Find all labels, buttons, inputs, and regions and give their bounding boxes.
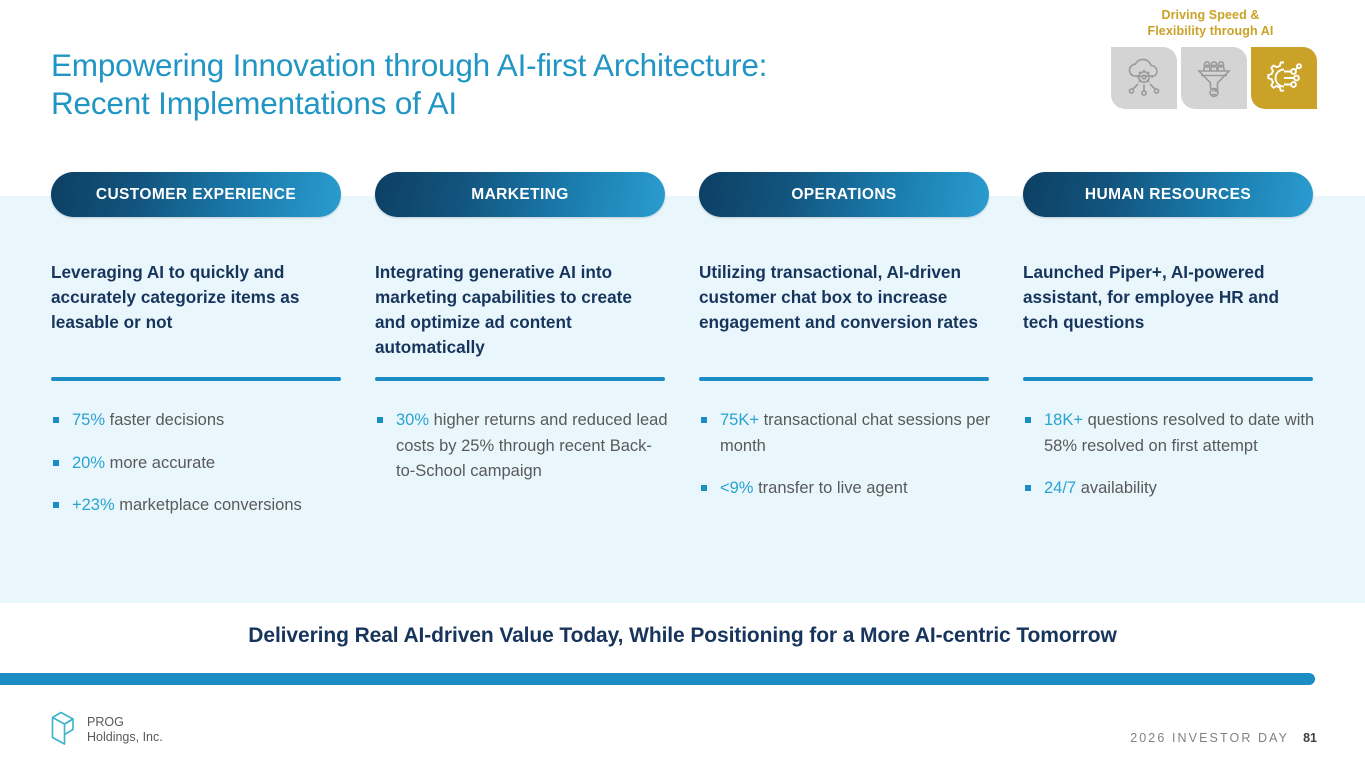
list-item: 24/7 availability	[1023, 476, 1318, 502]
gear-circuit-icon	[1262, 57, 1306, 99]
pill-label: CUSTOMER EXPERIENCE	[96, 186, 296, 204]
theme-badge-tiles	[1104, 47, 1317, 109]
bullet-stat: 75K+	[720, 411, 759, 429]
brand-logo-text: PROG Holdings, Inc.	[87, 715, 163, 745]
footer-event-label: 2026 INVESTOR DAY	[1130, 731, 1289, 745]
funnel-icon	[1192, 57, 1236, 99]
columns-container: CUSTOMER EXPERIENCE Leveraging AI to qui…	[0, 172, 1365, 592]
bullet-stat: <9%	[720, 479, 753, 497]
brand-logo: PROG Holdings, Inc.	[48, 708, 163, 751]
list-item: 18K+ questions resolved to date with 58%…	[1023, 408, 1318, 459]
theme-badge-caption: Driving Speed & Flexibility through AI	[1104, 8, 1317, 39]
bullets-operations: 75K+ transactional chat sessions per mon…	[699, 408, 994, 519]
list-item: 30% higher returns and reduced lead cost…	[375, 408, 670, 485]
pill-customer-experience[interactable]: CUSTOMER EXPERIENCE	[51, 172, 341, 217]
bullet-stat: 20%	[72, 454, 105, 472]
theme-tile-gear-circuit[interactable]	[1251, 47, 1317, 109]
column-human-resources: HUMAN RESOURCES Launched Piper+, AI-powe…	[1023, 172, 1313, 592]
list-item: 75K+ transactional chat sessions per mon…	[699, 408, 994, 459]
bullet-text: more accurate	[105, 454, 215, 472]
page-title: Empowering Innovation through AI-first A…	[51, 46, 1061, 122]
bullets-marketing: 30% higher returns and reduced lead cost…	[375, 408, 670, 502]
brand-subname: Holdings, Inc.	[87, 730, 163, 745]
headline-marketing: Integrating generative AI into marketing…	[375, 260, 665, 360]
pill-human-resources[interactable]: HUMAN RESOURCES	[1023, 172, 1313, 217]
bullets-customer-experience: 75% faster decisions 20% more accurate +…	[51, 408, 346, 536]
bullet-text: transfer to live agent	[753, 479, 907, 497]
column-divider	[375, 377, 665, 381]
column-divider	[699, 377, 989, 381]
column-customer-experience: CUSTOMER EXPERIENCE Leveraging AI to qui…	[51, 172, 341, 592]
pill-label: HUMAN RESOURCES	[1085, 186, 1251, 204]
pill-operations[interactable]: OPERATIONS	[699, 172, 989, 217]
list-item: 75% faster decisions	[51, 408, 346, 434]
pill-label: OPERATIONS	[791, 186, 896, 204]
accent-bar	[0, 673, 1315, 685]
page-title-line-2: Recent Implementations of AI	[51, 84, 1061, 122]
column-marketing: MARKETING Integrating generative AI into…	[375, 172, 665, 592]
theme-badge-caption-line-2: Flexibility through AI	[1104, 24, 1317, 40]
footer-page-number: 81	[1303, 731, 1317, 745]
bullet-text: questions resolved to date with 58% reso…	[1044, 411, 1314, 455]
bullet-stat: 30%	[396, 411, 429, 429]
bullets-human-resources: 18K+ questions resolved to date with 58%…	[1023, 408, 1318, 519]
summary-banner: Delivering Real AI-driven Value Today, W…	[0, 624, 1365, 648]
theme-tile-funnel	[1181, 47, 1247, 109]
bullet-stat: 24/7	[1044, 479, 1076, 497]
bullet-text: transactional chat sessions per month	[720, 411, 990, 455]
theme-tile-cloud-gear	[1111, 47, 1177, 109]
bullet-stat: +23%	[72, 496, 115, 514]
bullet-stat: 75%	[72, 411, 105, 429]
cloud-gear-icon	[1122, 57, 1166, 99]
pill-label: MARKETING	[471, 186, 568, 204]
column-divider	[1023, 377, 1313, 381]
list-item: <9% transfer to live agent	[699, 476, 994, 502]
brand-name: PROG	[87, 715, 163, 730]
bullet-text: higher returns and reduced lead costs by…	[396, 411, 668, 480]
bullet-stat: 18K+	[1044, 411, 1083, 429]
footer-meta: 2026 INVESTOR DAY 81	[1130, 731, 1317, 745]
page-title-line-1: Empowering Innovation through AI-first A…	[51, 46, 1061, 84]
list-item: 20% more accurate	[51, 451, 346, 477]
prog-logo-icon	[48, 708, 78, 751]
headline-customer-experience: Leveraging AI to quickly and accurately …	[51, 260, 341, 335]
theme-badge: Driving Speed & Flexibility through AI	[1104, 8, 1317, 109]
bullet-text: faster decisions	[105, 411, 224, 429]
theme-badge-caption-line-1: Driving Speed &	[1104, 8, 1317, 24]
column-divider	[51, 377, 341, 381]
headline-human-resources: Launched Piper+, AI-powered assistant, f…	[1023, 260, 1313, 335]
pill-marketing[interactable]: MARKETING	[375, 172, 665, 217]
headline-operations: Utilizing transactional, AI-driven custo…	[699, 260, 989, 335]
list-item: +23% marketplace conversions	[51, 493, 346, 519]
bullet-text: marketplace conversions	[115, 496, 302, 514]
column-operations: OPERATIONS Utilizing transactional, AI-d…	[699, 172, 989, 592]
bullet-text: availability	[1076, 479, 1157, 497]
